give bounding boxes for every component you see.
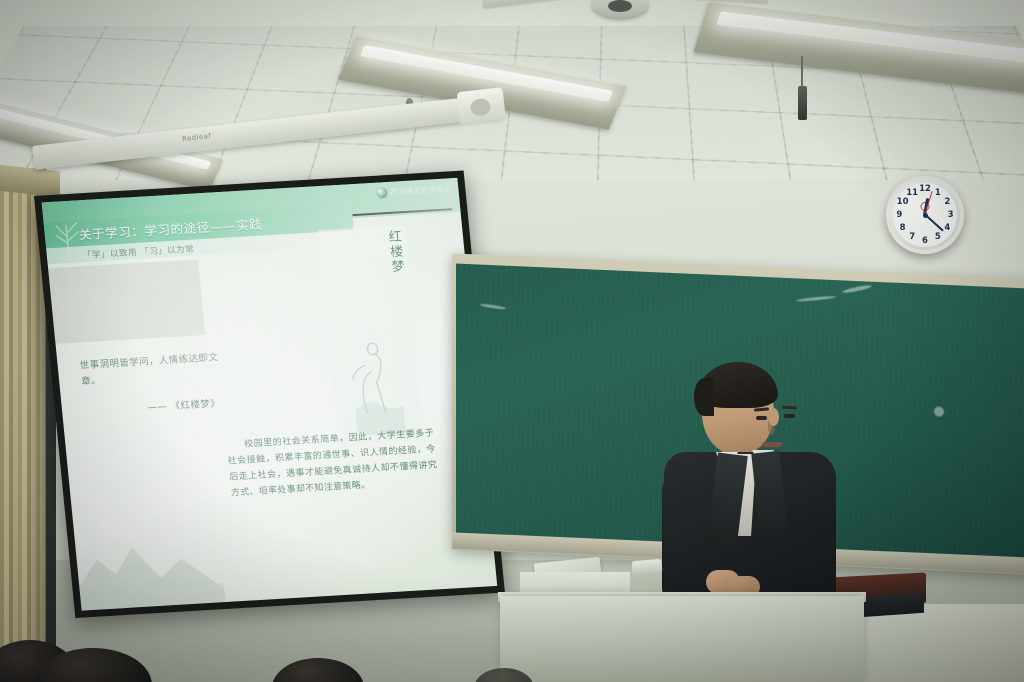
speaker-eye — [784, 414, 795, 418]
clock-center-pin — [923, 213, 928, 218]
clock-number: 2 — [944, 197, 950, 207]
clock-number: 9 — [896, 210, 902, 220]
presentation-slide: 西元课堂教育集团 关于学习：学习的途径——实践 「学」以致用 「习」以为常 世事… — [42, 178, 498, 611]
slide-quote: 世事洞明皆学问，人情练达即文章。 —— 《红楼梦》 — [79, 350, 225, 420]
chalk-smudge — [934, 406, 944, 416]
scroll-painting: 红楼梦 — [318, 225, 425, 445]
clock-number: 6 — [922, 236, 928, 246]
ceiling-camera-icon — [798, 86, 807, 120]
classroom-photo: Redleaf 西元课堂教育集团 关于学习：学习的途径——实践 — [0, 0, 1024, 682]
clock-number: 11 — [906, 188, 918, 198]
clock-number: 5 — [935, 232, 941, 242]
housing-brand-label: Redleaf — [182, 132, 212, 143]
logo-mark-icon — [375, 187, 387, 199]
ceiling-fan-icon — [560, 0, 680, 28]
speaker-mouth — [762, 442, 782, 447]
speaker-eyebrow — [782, 406, 797, 410]
clock-number: 3 — [948, 210, 954, 220]
speaker-person — [660, 362, 840, 624]
speaker-eyebrow — [754, 407, 769, 411]
bamboo-leaf-icon — [47, 214, 87, 262]
clock-number: 8 — [900, 223, 906, 233]
scroll-calligraphy: 红楼梦 — [366, 229, 404, 276]
slide-logo: 西元课堂教育集团 — [375, 183, 452, 198]
side-desk — [862, 604, 1024, 682]
clock-number: 7 — [909, 232, 915, 242]
clock-face: 12 1 2 3 4 5 6 7 8 9 10 11 — [893, 183, 957, 247]
clock-number: 12 — [919, 184, 931, 194]
clock-number: 1 — [935, 188, 941, 198]
housing-end-cap — [457, 87, 507, 126]
speaker-ear — [768, 408, 779, 426]
slide-quote-text: 世事洞明皆学问，人情练达即文章。 — [79, 352, 219, 387]
ink-figure-illustration — [342, 330, 408, 437]
slide-quote-attribution: —— 《红楼梦》 — [84, 396, 225, 420]
projection-screen[interactable]: 西元课堂教育集团 关于学习：学习的途径——实践 「学」以致用 「习」以为常 世事… — [34, 170, 505, 617]
slide-logo-text: 西元课堂教育集团 — [389, 183, 452, 198]
lectern-podium[interactable]: 西 元 大 学 XIYUAN UNIVERSITY — [500, 596, 864, 682]
misty-mountain-watermark — [67, 516, 226, 610]
microphone-base[interactable] — [632, 559, 663, 575]
clock-number: 4 — [944, 223, 950, 233]
speaker-sideburn — [694, 378, 714, 416]
clock-number: 10 — [897, 197, 909, 207]
slide-gray-panel — [48, 259, 205, 344]
speaker-eye — [756, 416, 767, 420]
slide-body-paragraph: 校园里的社会关系简单，因此，大学生要多于社会接触，积累丰富的通世事、识人情的经验… — [226, 426, 440, 502]
wall-clock: 12 1 2 3 4 5 6 7 8 9 10 11 — [886, 176, 964, 254]
